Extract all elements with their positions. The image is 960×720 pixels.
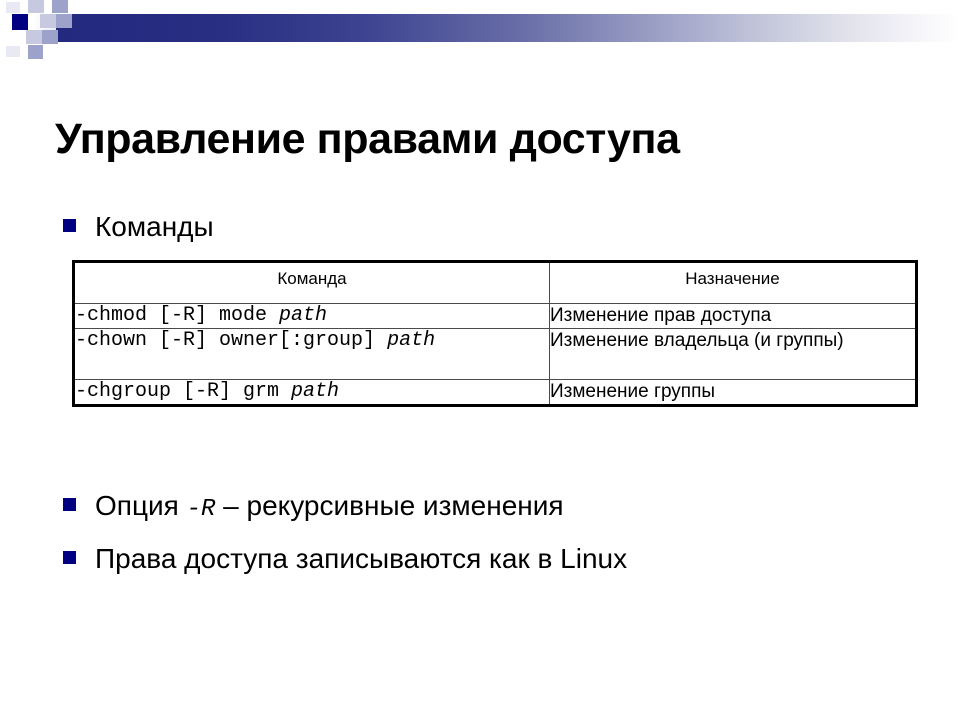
cell-command: -chmod [-R] mode path	[74, 304, 550, 329]
table-header-row: Команда Назначение	[74, 262, 917, 304]
bullet-label: Права доступа записываются как в Linux	[95, 542, 627, 576]
command-text: -chgroup [-R] grm	[75, 380, 291, 403]
command-text: -chown [-R] owner[:group]	[75, 329, 387, 352]
deco-square-light-1	[28, 0, 44, 13]
deco-square-mid-2	[56, 14, 72, 28]
deco-square-mid-4	[28, 45, 43, 59]
command-arg: path	[291, 380, 339, 403]
deco-square-pale-1	[6, 2, 20, 13]
bullet-label: Команды	[95, 210, 214, 244]
bullet-label: Опция -R – рекурсивные изменения	[95, 489, 564, 525]
deco-square-navy	[12, 14, 28, 30]
command-arg: path	[387, 329, 435, 352]
bullet-item-commands: Команды	[63, 210, 214, 244]
page-title: Управление правами доступа	[55, 115, 915, 163]
band-gradient-bar	[56, 14, 960, 42]
square-bullet-icon	[63, 498, 76, 511]
command-arg: path	[279, 304, 327, 327]
bullet-item-recursive-option: Опция -R – рекурсивные изменения	[63, 489, 564, 525]
column-header-purpose: Назначение	[550, 262, 917, 304]
slide-root: { "theme": { "accent_navy": "#000080", "…	[0, 0, 960, 720]
cell-purpose: Изменение группы	[550, 379, 917, 405]
deco-square-mid-3	[42, 30, 58, 44]
bullet-item-linux-permissions: Права доступа записываются как в Linux	[63, 542, 627, 576]
square-bullet-icon	[63, 219, 76, 232]
deco-square-mid-1	[52, 0, 68, 13]
deco-square-pale-2	[6, 46, 20, 57]
bullet-prefix: Опция	[95, 490, 187, 521]
option-code: -R	[187, 496, 216, 523]
command-text: -chmod [-R] mode	[75, 304, 279, 327]
header-decoration-band	[0, 0, 960, 62]
commands-table: Команда Назначение -chmod [-R] mode path…	[72, 260, 918, 407]
cell-purpose: Изменение прав доступа	[550, 304, 917, 329]
table-row: -chmod [-R] mode path Изменение прав дос…	[74, 304, 917, 329]
bullet-suffix: – рекурсивные изменения	[215, 490, 563, 521]
cell-command: -chgroup [-R] grm path	[74, 379, 550, 405]
table-row: -chown [-R] owner[:group] path Изменение…	[74, 328, 917, 379]
cell-command: -chown [-R] owner[:group] path	[74, 328, 550, 379]
table-row: -chgroup [-R] grm path Изменение группы	[74, 379, 917, 405]
square-bullet-icon	[63, 551, 76, 564]
cell-purpose: Изменение владельца (и группы)	[550, 328, 917, 379]
column-header-command: Команда	[74, 262, 550, 304]
deco-square-light-3	[26, 30, 42, 44]
